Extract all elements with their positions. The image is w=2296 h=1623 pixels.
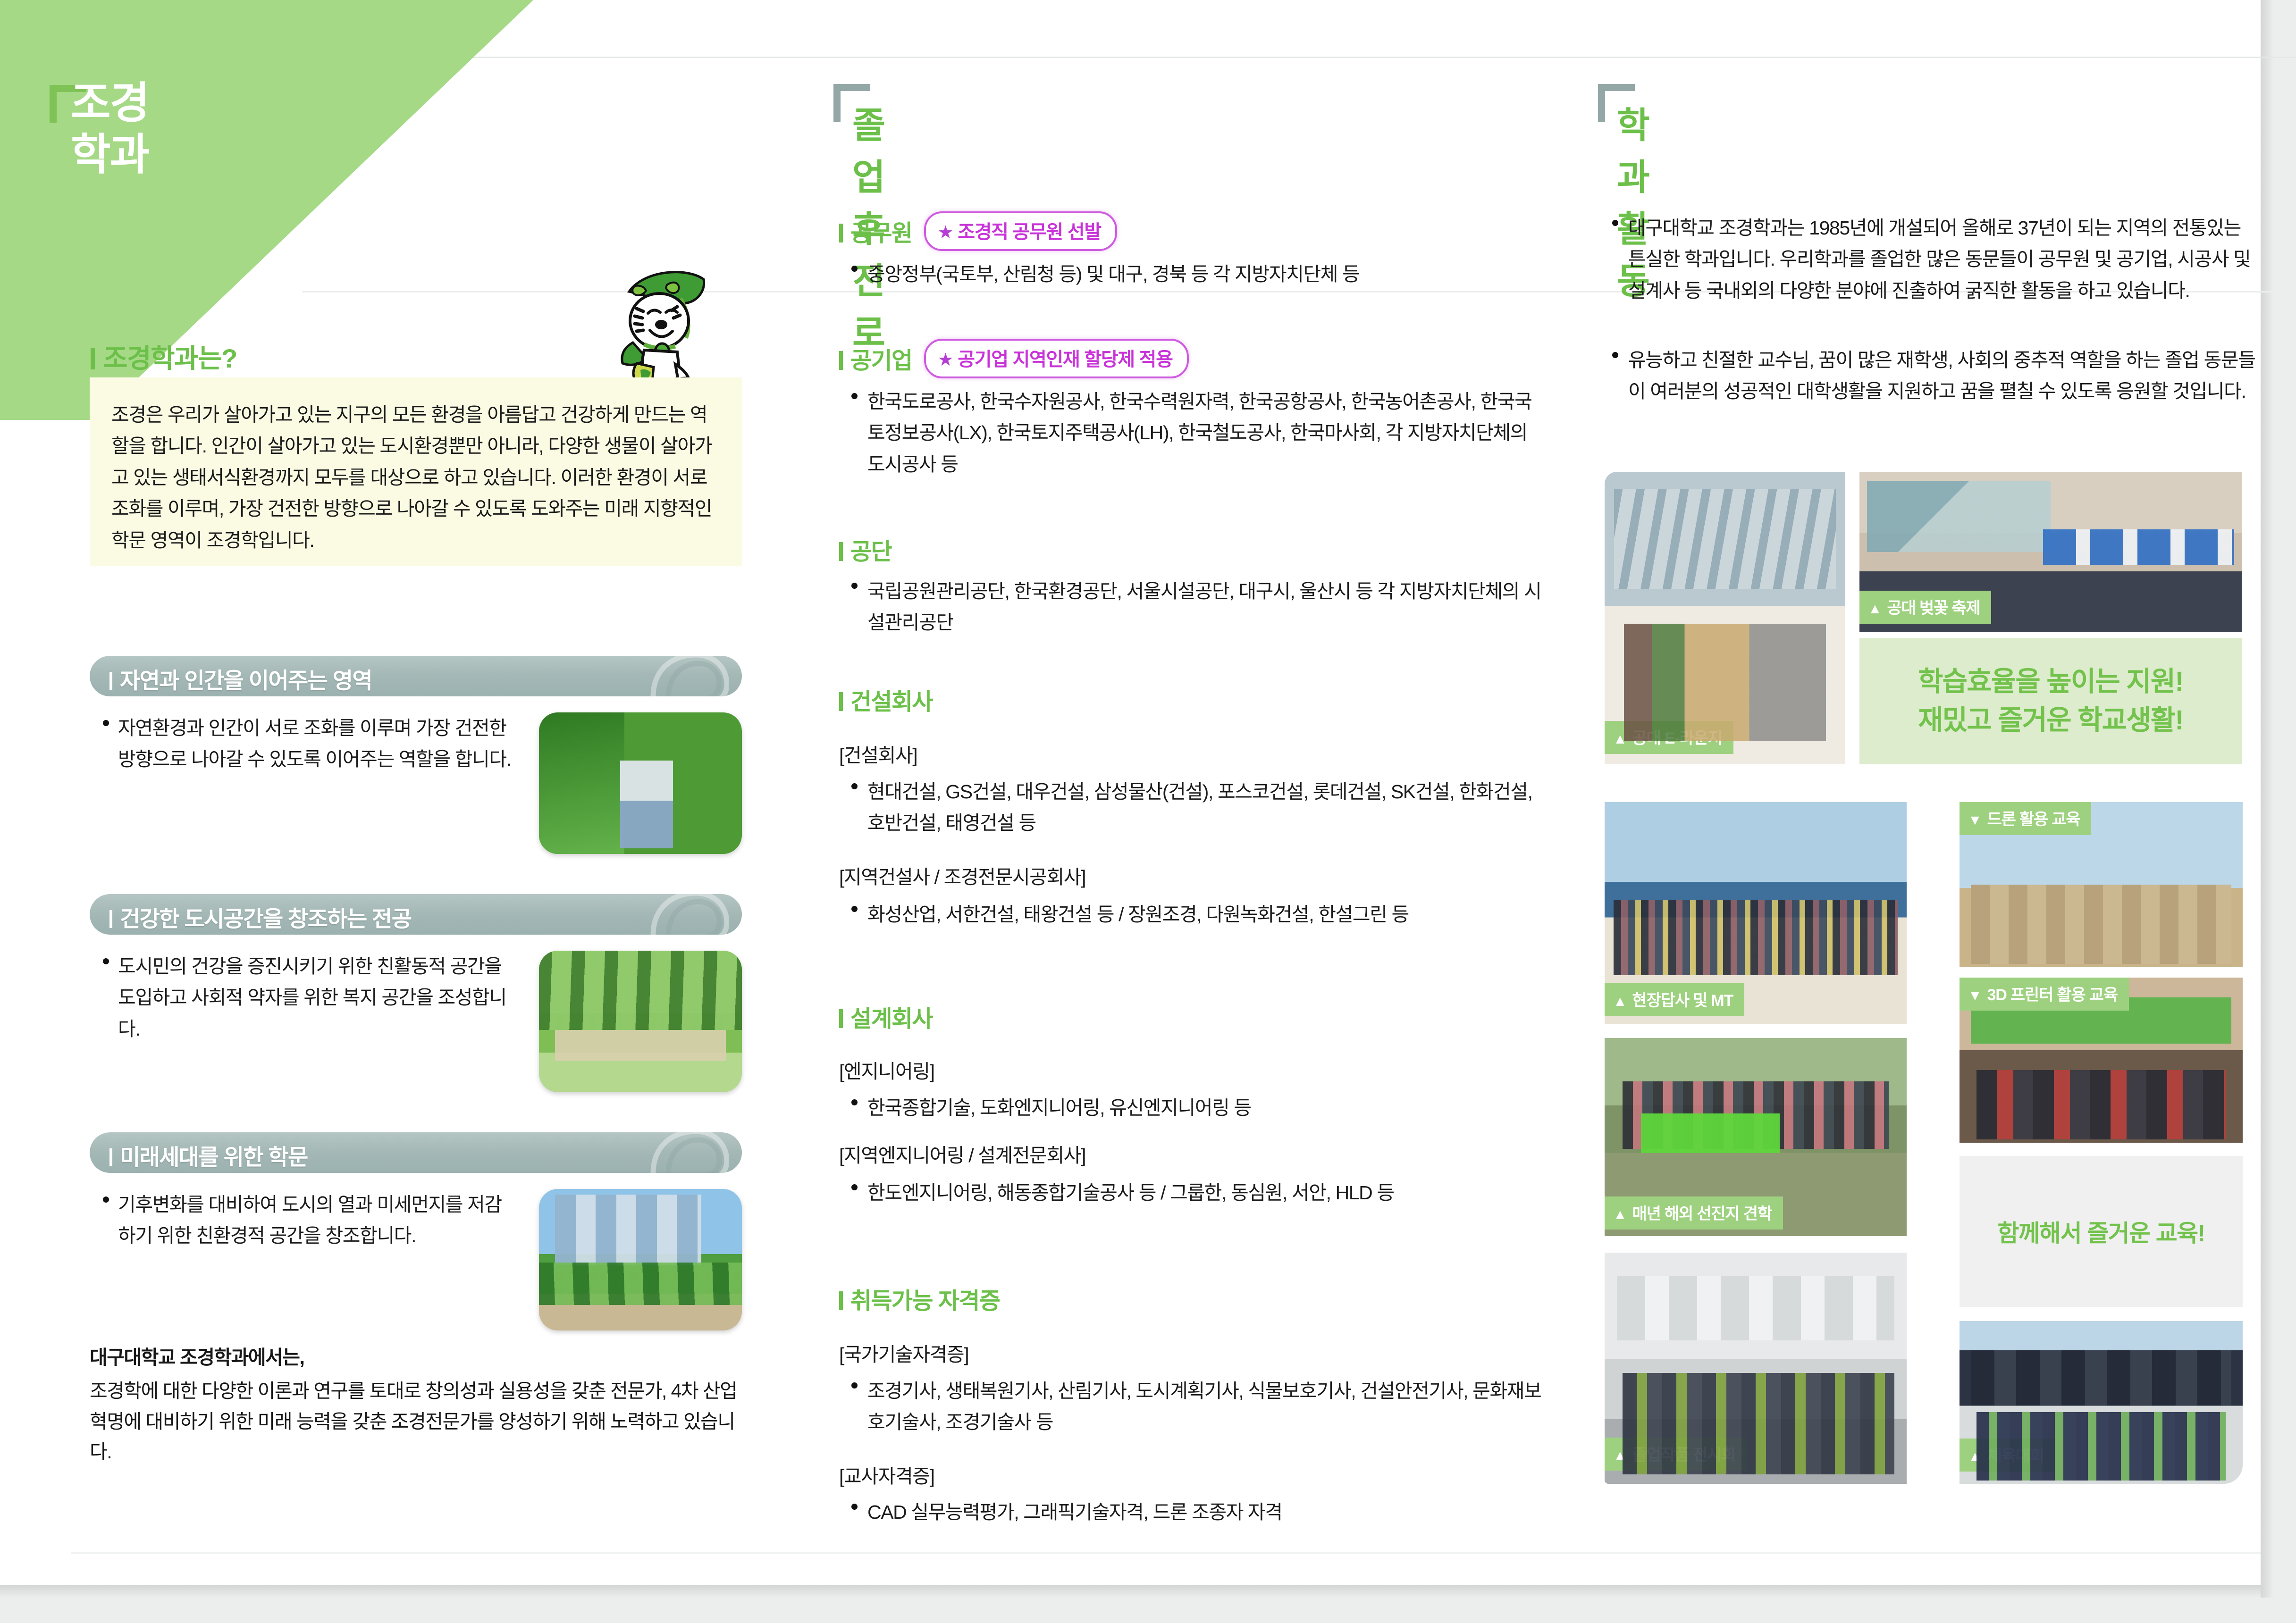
closing-bold-line: 대구대학교 조경학과에서는, [90,1342,746,1373]
career-sub-4-2: [지역엔지니어링 / 설계전문회사] [839,1141,1085,1171]
career-item-2-0: 국립공원관리공단, 한국환경공단, 서울시설공단, 대구시, 울산시 등 각 지… [867,576,1542,638]
career-sub-3-0: [건설회사] [839,741,917,771]
closing-body-text: 조경학에 대한 다양한 이론과 연구를 토대로 창의성과 실용성을 갖춘 전문가… [90,1380,737,1463]
paper-right-shadow [2261,0,2274,1598]
career-item-5-1: 조경기사, 생태복원기사, 산림기사, 도시계획기사, 식물보호기사, 건설안전… [867,1375,1552,1438]
closing-statement: 대구대학교 조경학과에서는, 조경학에 대한 다양한 이론과 연구를 토대로 창… [90,1342,746,1467]
bullet-dot [851,783,858,789]
field-trip-mt-photo: ▲현장답사 및 MT [1605,802,1907,1024]
photo-caption-0: ▲공대 E-라운지 [1605,721,1733,754]
what-is-dept-title: 조경학과는? [91,337,237,376]
triangle-up-icon: ▲ [1613,1207,1627,1223]
feature-heading-3: 미래세대를 위한 학문 [90,1132,742,1173]
accent-bar [109,910,112,928]
divider-rule-top [463,57,2296,58]
photo-caption-5: ▲매년 해외 선진지 견학 [1605,1196,1783,1230]
what-is-dept-label: 조경학과는? [103,343,237,373]
accent-bar [109,672,112,690]
accent-bar [109,1148,112,1166]
career-section-heading-3: 건설회사 [839,683,933,717]
feature-body-1: 자연환경과 인간이 서로 조화를 이루며 가장 건전한 방향으로 나아갈 수 있… [90,712,742,868]
career-section-heading-1: 공기업★공기업 지역인재 할당제 적용 [839,339,1189,378]
bullet-dot [103,958,109,964]
career-item-0-0: 중앙정부(국토부, 산림청 등) 및 대구, 경북 등 각 지방자치단체 등 [867,259,1561,290]
career-sub-4-0: [엔지니어링] [839,1057,934,1087]
bullet-dot [851,1504,858,1510]
career-item-5-3: CAD 실무능력평가, 그래픽기술자격, 드론 조종자 자격 [867,1497,1552,1528]
intro-text-box: 조경은 우리가 살아가고 있는 지구의 모든 환경을 아름답고 건강하게 만드는… [90,377,742,566]
triangle-up-icon: ▲ [1613,731,1627,747]
career-sub-3-2: [지역건설사 / 조경전문시공회사] [839,862,1085,893]
triangle-up-icon: ▲ [1968,1449,1982,1465]
divider-rule-bottom [71,1552,2261,1554]
feature-heading-2: 건강한 도시공간을 창조하는 전공 [90,894,742,935]
accent-bar [839,224,843,243]
career-pill-0: ★조경직 공무원 선발 [924,211,1117,251]
accent-bar [91,348,95,369]
brochure-page: 조경 학과 조경학과는? 조경은 우리가 살아가고 있는 지구의 모든 환경을 … [0,0,2296,1623]
bullet-dot [851,583,858,589]
leaf-swirl-decoration-icon [639,1132,729,1173]
bullet-dot [851,906,858,912]
department-title-line2: 학과 [71,129,149,181]
career-item-4-1: 한국종합기술, 도화엔지니어링, 유신엔지니어링 등 [867,1092,1547,1123]
career-section-heading-5: 취득가능 자격증 [839,1282,1000,1316]
career-section-heading-0: 공무원★조경직 공무원 선발 [839,211,1117,251]
leaf-swirl-decoration-icon [639,894,729,935]
feature-body-3: 기후변화를 대비하여 도시의 열과 미세먼지를 저감하기 위한 친환경적 공간을… [90,1189,742,1345]
career-section-heading-4: 설계회사 [839,1000,933,1034]
photo-caption-2: ▲현장답사 및 MT [1605,983,1744,1016]
dept-mascot-tiger-icon [588,250,729,392]
career-item-3-1: 현대건설, GS건설, 대우건설, 삼성물산(건설), 포스코건설, 롯데건설,… [867,776,1547,839]
feature-heading-3-label: 미래세대를 위한 학문 [109,1139,308,1171]
triangle-up-icon: ▲ [1613,994,1627,1010]
photo-caption-4: ▼3D 프린터 활용 교육 [1960,978,2129,1011]
photo-caption-6: ▲졸업작품 전시회 [1605,1438,1747,1471]
feature-text-3: 기후변화를 대비하여 도시의 열과 미세먼지를 저감하기 위한 친환경적 공간을… [118,1189,514,1252]
slogan-line-1: 학습효율을 높이는 지원! [1918,662,2183,701]
overseas-study-tour-photo: ▲매년 해외 선진지 견학 [1605,1038,1907,1236]
slogan-block-main: 학습효율을 높이는 지원! 재밌고 즐거운 학교생활! [1859,638,2242,764]
career-item-1-0: 한국도로공사, 한국수자원공사, 한국수력원자력, 한국공항공사, 한국농어촌공… [867,386,1542,480]
graduation-exhibition-photo: ▲졸업작품 전시회 [1605,1253,1907,1484]
bullet-dot [103,720,109,726]
career-item-4-3: 한도엔지니어링, 해동종합기술공사 등 / 그룹한, 동심원, 서안, HLD … [867,1177,1547,1208]
3d-printer-training-photo: ▼3D 프린터 활용 교육 [1960,978,2243,1143]
accent-bar [839,1291,843,1310]
career-section-heading-2: 공단 [839,533,891,567]
career-sub-5-2: [교사자격증] [839,1462,934,1492]
bullet-dot [851,1184,858,1190]
triangle-up-icon: ▲ [1613,1448,1627,1464]
cherry-blossom-festival-photo: ▲공대 벚꽃 축제 [1859,472,2242,632]
photo-caption-3: ▼드론 활용 교육 [1960,802,2091,835]
triangle-down-icon: ▼ [1968,988,1982,1004]
career-pill-1: ★공기업 지역인재 할당제 적용 [924,339,1188,378]
accent-bar [839,542,843,561]
green-city-skyline-photo [539,1189,742,1330]
paper-bottom-shadow [0,1585,2261,1598]
accent-bar [839,1009,843,1028]
bullet-dot [851,393,858,399]
activity-bullet-0: 대구대학교 조경학과는 1985년에 개설되어 올해로 37년이 되는 지역의 … [1628,212,2258,306]
bullet-dot [103,1196,109,1203]
accent-bar [839,692,843,711]
bullet-dot [1612,220,1618,226]
department-title: 조경 학과 [71,78,149,180]
triangle-down-icon: ▼ [1968,812,1982,828]
slogan-block-secondary: 함께해서 즐거운 교육! [1960,1156,2243,1307]
star-icon: ★ [937,223,953,243]
engineering-e-lounge-photo: ▲공대 E-라운지 [1605,472,1845,764]
leaf-swirl-decoration-icon [639,656,729,696]
urban-park-cyclists-photo [539,951,742,1092]
slogan-line-2: 재밌고 즐거운 학교생활! [1918,701,2183,740]
sports-day-photo: ▲체육대회 [1960,1321,2243,1484]
department-title-line1: 조경 [71,78,149,129]
intro-paragraph: 조경은 우리가 살아가고 있는 지구의 모든 환경을 아름답고 건강하게 만드는… [90,377,742,556]
feature-body-2: 도시민의 건강을 증진시키기 위한 친활동적 공간을 도입하고 사회적 약자를 … [90,951,742,1106]
bullet-dot [851,1099,858,1105]
feature-heading-1-label: 자연과 인간을 이어주는 영역 [109,662,372,695]
photo-caption-1: ▲공대 벚꽃 축제 [1859,591,1991,624]
feature-text-2: 도시민의 건강을 증진시키기 위한 친활동적 공간을 도입하고 사회적 약자를 … [118,951,514,1045]
star-icon: ★ [937,350,953,370]
triangle-up-icon: ▲ [1868,601,1882,617]
feature-heading-2-label: 건강한 도시공간을 창조하는 전공 [109,901,411,933]
feature-heading-1: 자연과 인간을 이어주는 영역 [90,656,742,696]
accent-bar [839,351,843,370]
hedge-garden-couple-photo [539,712,742,854]
career-item-3-3: 화성산업, 서한건설, 태왕건설 등 / 장원조경, 다원녹화건설, 한설그린 … [867,899,1547,930]
photo-caption-7: ▲체육대회 [1960,1439,2055,1472]
career-sub-5-0: [국가기술자격증] [839,1340,968,1370]
slogan-small-text: 함께해서 즐거운 교육! [1997,1214,2204,1248]
bullet-dot [851,266,858,272]
activity-bullet-1: 유능하고 친절한 교수님, 꿈이 많은 재학생, 사회의 중추적 역할을 하는 … [1628,344,2258,407]
feature-text-1: 자연환경과 인간이 서로 조화를 이루며 가장 건전한 방향으로 나아갈 수 있… [118,712,514,775]
drone-training-photo: ▼드론 활용 교육 [1960,802,2243,967]
bullet-dot [1612,352,1618,358]
bullet-dot [851,1382,858,1389]
